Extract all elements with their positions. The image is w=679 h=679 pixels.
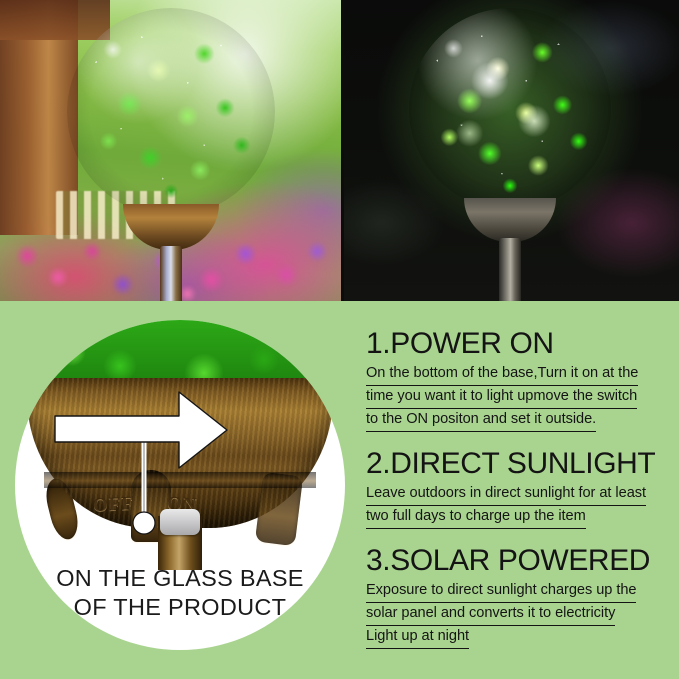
step-body: Exposure to direct sunlight charges up t…: [366, 580, 671, 649]
gazing-ball-icon: [67, 8, 275, 216]
base-rim: [44, 472, 316, 488]
glass-sheen: [409, 8, 611, 210]
step-body-line: Light up at night: [366, 626, 469, 649]
nighttime-photo: [341, 0, 679, 301]
daytime-ball-assembly: [67, 8, 275, 216]
instruction-list: 1.POWER ON On the bottom of the base,Tur…: [366, 325, 671, 653]
gazing-ball-icon: [409, 8, 611, 210]
step-body: Leave outdoors in direct sunlight for at…: [366, 483, 671, 529]
step-body-line: Exposure to direct sunlight charges up t…: [366, 580, 636, 603]
inset-caption-line-2: OF THE PRODUCT: [15, 593, 345, 622]
step-heading: 1.POWER ON: [366, 325, 671, 363]
power-switch[interactable]: [160, 509, 200, 535]
step-solar-powered: 3.SOLAR POWERED Exposure to direct sunli…: [366, 542, 671, 649]
nighttime-ball-assembly: [409, 8, 611, 210]
inset-caption-line-1: ON THE GLASS BASE: [15, 564, 345, 593]
step-body-line: On the bottom of the base,Turn it on at …: [366, 363, 638, 386]
step-heading: 3.SOLAR POWERED: [366, 542, 671, 580]
photo-divider: [341, 0, 344, 301]
switch-detail-inset: OFF ON ON THE GLASS BASE OF THE PRODUCT: [15, 320, 345, 650]
step-heading: 2.DIRECT SUNLIGHT: [366, 445, 671, 483]
ground-stake: [160, 246, 182, 301]
photo-strip: [0, 0, 679, 301]
step-body-line: two full days to charge up the item: [366, 506, 586, 529]
product-infographic: OFF ON ON THE GLASS BASE OF THE PRODUCT …: [0, 0, 679, 679]
step-body-line: Leave outdoors in direct sunlight for at…: [366, 483, 646, 506]
step-body: On the bottom of the base,Turn it on at …: [366, 363, 671, 432]
step-body-line: solar panel and converts it to electrici…: [366, 603, 615, 626]
step-power-on: 1.POWER ON On the bottom of the base,Tur…: [366, 325, 671, 432]
step-direct-sunlight: 2.DIRECT SUNLIGHT Leave outdoors in dire…: [366, 445, 671, 529]
inset-caption: ON THE GLASS BASE OF THE PRODUCT: [15, 564, 345, 622]
glass-sheen: [67, 8, 275, 216]
step-body-line: time you want it to light upmove the swi…: [366, 386, 637, 409]
step-body-line: to the ON positon and set it outside.: [366, 409, 596, 432]
off-label: OFF: [92, 493, 134, 517]
ground-stake: [499, 238, 521, 301]
base-closeup-photo: OFF ON: [15, 320, 345, 570]
daytime-photo: [0, 0, 341, 301]
